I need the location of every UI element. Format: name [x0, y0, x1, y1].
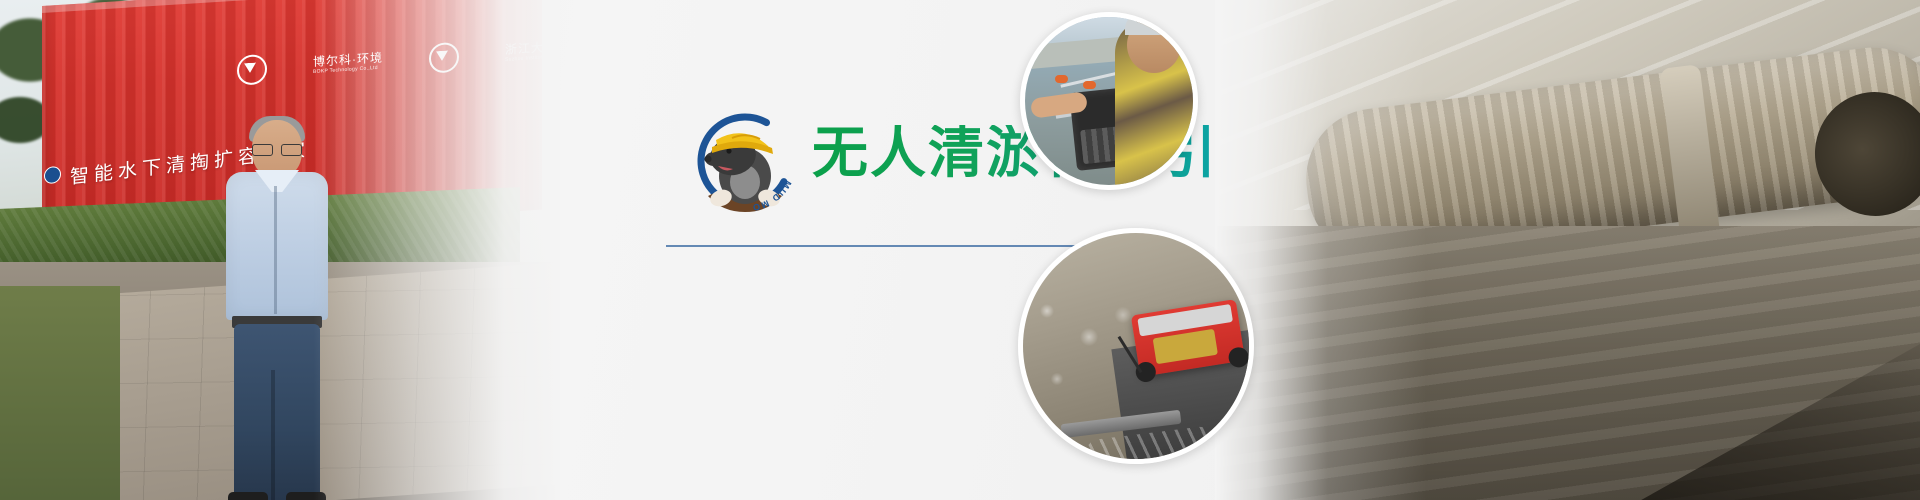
glasses-icon [252, 144, 302, 154]
grass-strip [0, 286, 120, 500]
shirt [226, 172, 328, 320]
buoy-2 [1083, 81, 1096, 89]
bokp-brand-text: 博尔科·环境 BOKP Technology Co.,Ltd [313, 52, 383, 76]
engineer-figure [222, 120, 332, 500]
hero-banner: 博尔科·环境 BOKP Technology Co.,Ltd 浙江大学苏州工业技… [0, 0, 1920, 500]
shoe-right [286, 492, 326, 500]
bokp-logo-icon [237, 54, 267, 86]
zju-logo-icon [429, 42, 459, 74]
container-and-engineer-photo: 博尔科·环境 BOKP Technology Co.,Ltd 浙江大学苏州工业技… [0, 0, 560, 500]
trouser-seam [271, 370, 275, 500]
operator-cap [1125, 13, 1187, 35]
mud-mole-logo: MUD MOLE [688, 104, 802, 218]
zju-brand-text: 浙江大学苏州工业技术研究院 Suzhou Institute of Indust… [505, 33, 560, 63]
trousers [234, 324, 320, 500]
robot-equipment-block [1153, 329, 1218, 364]
shirt-placket [274, 186, 277, 314]
dredging-robot-on-sludge-photo [1018, 228, 1254, 464]
sludge-discharge-pipe-photo [1215, 0, 1920, 500]
shoe-left [228, 492, 268, 500]
buoy-1 [1055, 75, 1068, 83]
operator-with-remote-control-photo [1020, 12, 1198, 190]
